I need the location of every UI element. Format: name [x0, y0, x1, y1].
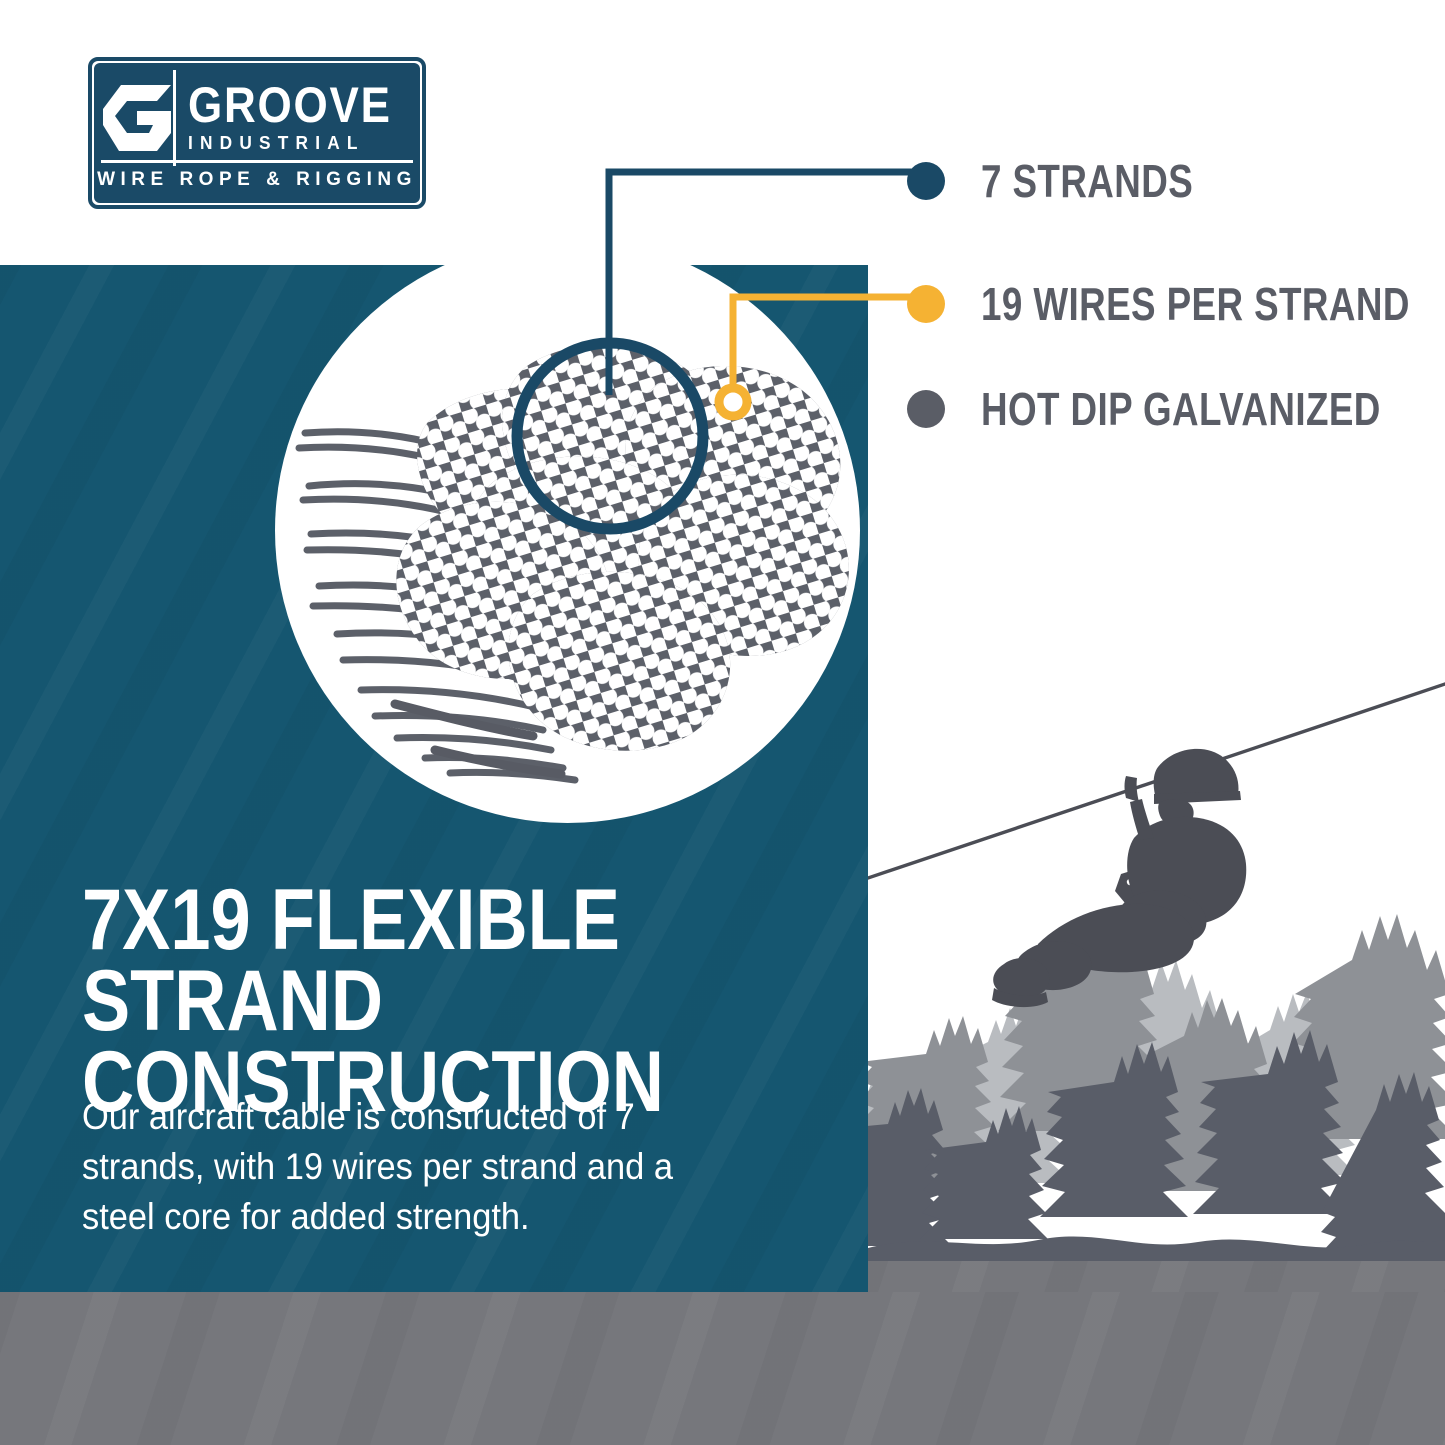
page-title: 7X19 FLEXIBLE STRAND CONSTRUCTION	[82, 880, 720, 1122]
groove-hex-g-icon	[101, 83, 173, 153]
callout-dot-navy-icon	[907, 162, 945, 200]
logo-bottom-row: WIRE ROPE & RIGGING	[101, 160, 413, 196]
logo-wordmark: GROOVE INDUSTRIAL	[176, 70, 419, 166]
callout-strands: 7 STRANDS	[907, 158, 1246, 204]
logo-g-mark	[101, 70, 176, 166]
body-description: Our aircraft cable is constructed of 7 s…	[82, 1092, 714, 1242]
bottom-bar-right-texture	[868, 1261, 1445, 1292]
callout-dot-orange-icon	[907, 285, 945, 323]
bottom-bar-right-extension	[868, 1261, 1445, 1292]
callout-wires-per-strand: 19 WIRES PER STRAND	[907, 281, 1445, 327]
wire-rope-illustration	[275, 238, 860, 823]
bottom-bar-texture	[0, 1292, 1445, 1445]
callout-label-wires: 19 WIRES PER STRAND	[981, 281, 1410, 327]
headline-line-1: 7X19 FLEXIBLE	[82, 880, 720, 961]
bottom-bar	[0, 1292, 1445, 1445]
callout-dot-gray-icon	[907, 390, 945, 428]
callout-label-galvanized: HOT DIP GALVANIZED	[981, 386, 1381, 432]
logo-tagline: WIRE ROPE & RIGGING	[97, 169, 417, 191]
logo-inner-plate: GROOVE INDUSTRIAL WIRE ROPE & RIGGING	[94, 63, 420, 203]
brand-logo[interactable]: GROOVE INDUSTRIAL WIRE ROPE & RIGGING	[88, 57, 426, 209]
callout-hot-dip-galvanized: HOT DIP GALVANIZED	[907, 386, 1445, 432]
logo-brand-name: GROOVE	[188, 82, 392, 129]
infographic-poster: 7 STRANDS 19 WIRES PER STRAND HOT DIP GA…	[0, 0, 1445, 1445]
logo-top-row: GROOVE INDUSTRIAL	[101, 70, 413, 166]
zipline-scene-art	[868, 612, 1445, 1293]
callout-label-strands: 7 STRANDS	[981, 158, 1193, 204]
logo-brand-sub: INDUSTRIAL	[188, 133, 410, 154]
zipline-scene	[868, 612, 1445, 1293]
